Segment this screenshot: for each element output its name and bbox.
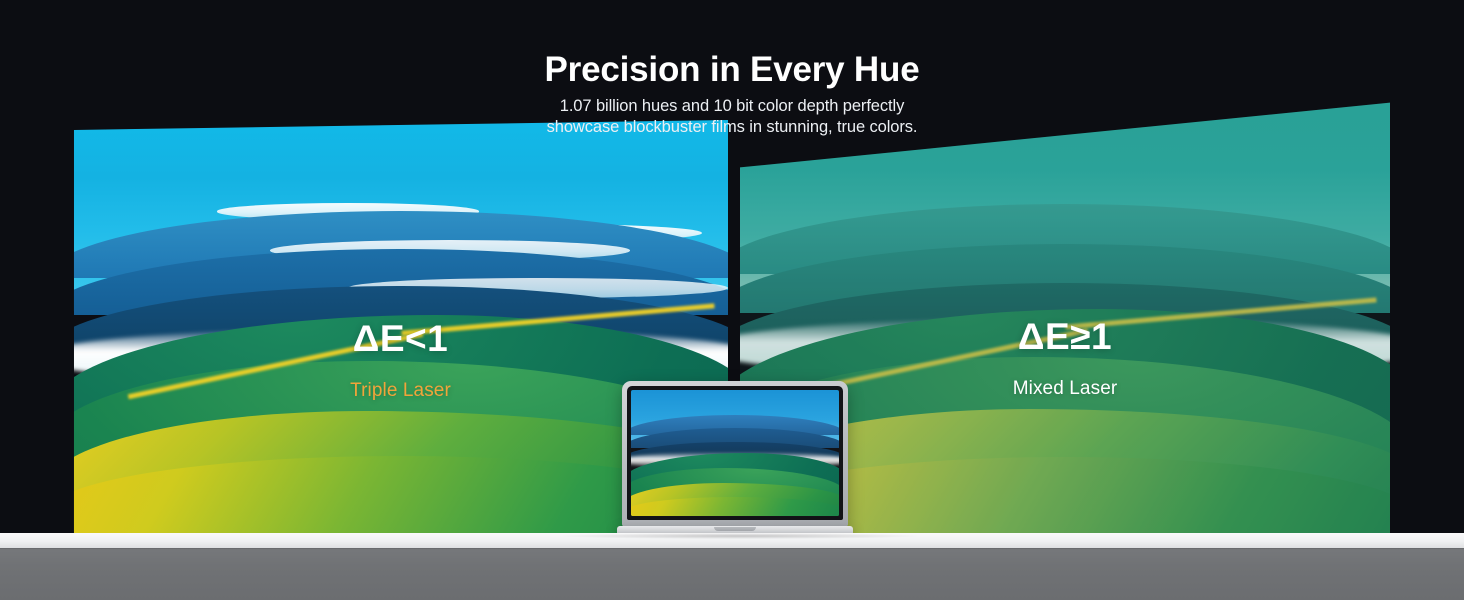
laptop-device xyxy=(617,381,853,539)
hill-foreground xyxy=(631,497,839,516)
page-subtitle-line1: 1.07 billion hues and 10 bit color depth… xyxy=(0,96,1464,117)
table-front-wall xyxy=(0,548,1464,600)
laptop-notch xyxy=(718,386,752,390)
laptop-shadow xyxy=(560,533,920,539)
laptop-bezel xyxy=(627,386,843,520)
page-title: Precision in Every Hue xyxy=(0,50,1464,90)
laptop-lid xyxy=(622,381,848,527)
scene-stage: ΔE<1 Triple Laser ΔE≥1 Mixed Laser xyxy=(0,0,1464,600)
laptop-display xyxy=(631,390,839,516)
laptop-grip-notch xyxy=(714,527,756,531)
